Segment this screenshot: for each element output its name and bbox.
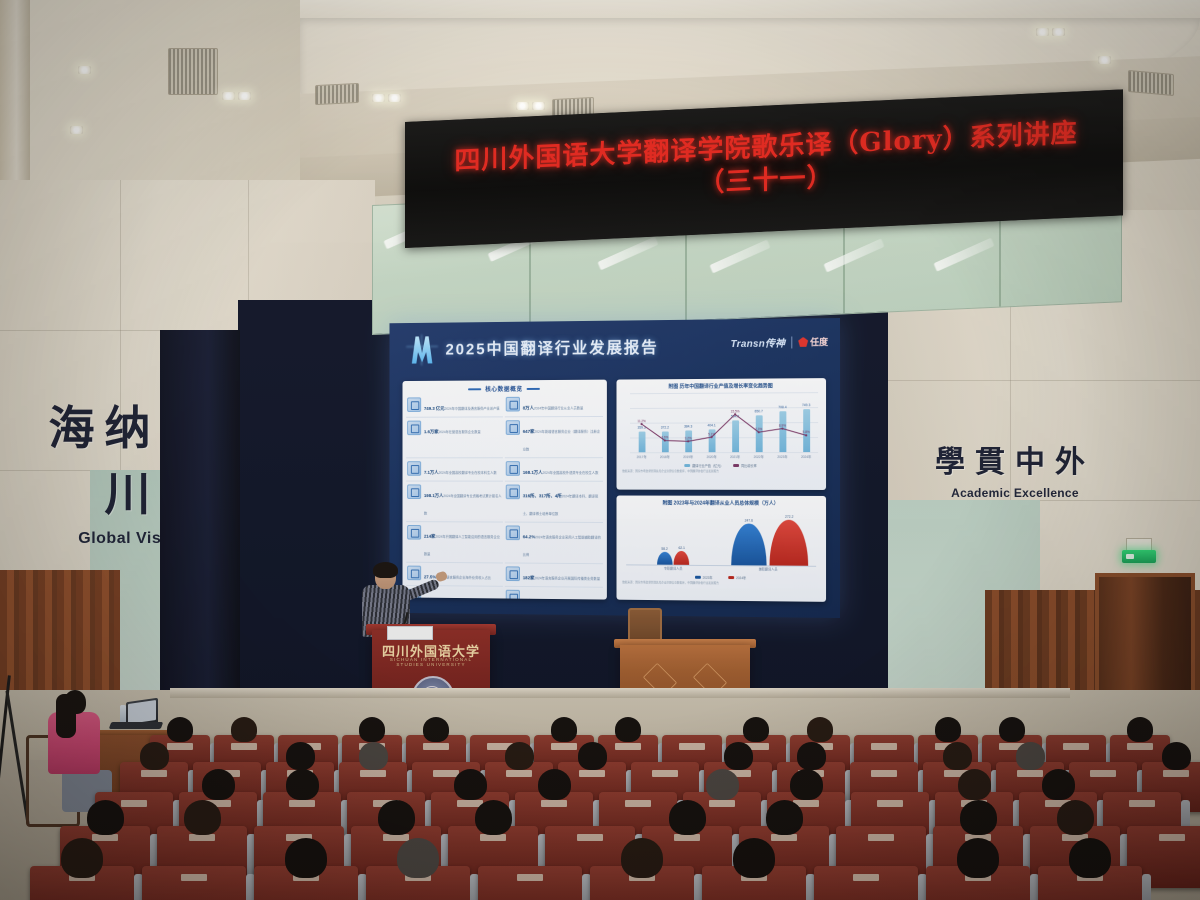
kpi-text: 7.1万人2024年全国高校翻译专业在校本科生人数 bbox=[424, 461, 497, 479]
kpi-text: 168.1万人2024年全国高校外语类专业在校生人数 bbox=[523, 461, 599, 479]
kpi-icon bbox=[506, 397, 520, 412]
chart-top-note: 数据来源：国家市场监督管理总局企业注册信息数据库，中国翻译协会行业发展报告 bbox=[617, 468, 827, 475]
audience-member-head bbox=[87, 800, 124, 835]
kpi-icon bbox=[407, 461, 421, 476]
brand-transn-logo: Transn传神 bbox=[731, 335, 786, 350]
auditorium-photo: 海纳百川 Global Vision 學貫中外 Academic Excelle… bbox=[0, 0, 1200, 900]
downlight-3 bbox=[222, 92, 235, 100]
kpi-value: 647家 bbox=[523, 429, 535, 434]
slide-title: 2025中国翻译行业发展报告 bbox=[445, 334, 658, 360]
kpi-desc: 2024年新增语言服务企业（翻译服务）注册企业数 bbox=[523, 430, 600, 452]
audience-member-head bbox=[454, 769, 487, 800]
svg-text:11.2%: 11.2% bbox=[637, 419, 646, 423]
kpi-text: 316所、317所、4所2024年翻译本科、翻译硕士、翻译博士培养单位数 bbox=[523, 485, 602, 520]
chart-legend-label: 2023年 bbox=[703, 575, 713, 580]
chart-x-tick: 2023年 bbox=[777, 454, 787, 459]
kpi-text: 198.1万人2024年全国翻译专业资格考试累计报名人数 bbox=[424, 484, 502, 519]
downlight-2 bbox=[70, 126, 83, 134]
chart-x-tick: 专职翻译人员 bbox=[664, 566, 683, 571]
audience-member-head bbox=[1042, 769, 1075, 800]
chart-x-tick: 2019年 bbox=[683, 454, 693, 459]
audience-member-head bbox=[1162, 742, 1191, 770]
podium-name-card bbox=[387, 626, 433, 640]
kpi-value: 182家 bbox=[523, 575, 535, 580]
kpi-item: 7.1万人2024年全国高校翻译专业在校本科生人数 bbox=[406, 459, 503, 481]
chart-distribution-value: 247.6 bbox=[745, 519, 753, 523]
audience-member-head bbox=[733, 838, 775, 878]
kpi-item: 214家2024年开展翻译人工智能应用的语言服务企业数量 bbox=[406, 523, 503, 563]
chart-x-tick: 兼职翻译人员 bbox=[759, 566, 778, 571]
kpi-icon bbox=[506, 525, 520, 540]
kpi-text: 749.3 亿元2024年中国翻译及语言服务产业总产值 bbox=[424, 397, 500, 415]
audience-seat[interactable] bbox=[478, 866, 582, 900]
audience-member-head bbox=[615, 717, 641, 742]
laptop-keyboard[interactable] bbox=[109, 722, 164, 729]
kpi-icon bbox=[407, 397, 421, 412]
audience-member-head bbox=[551, 717, 577, 742]
audience-member-head bbox=[505, 742, 534, 770]
chart-distribution-shape bbox=[731, 524, 766, 566]
kpi-icon bbox=[407, 566, 421, 581]
slide-kpi-card: 核心数据概览 749.3 亿元2024年中国翻译及语言服务产业总产值8万人202… bbox=[403, 380, 607, 600]
kpi-value: 1.6万家 bbox=[424, 429, 439, 434]
audience-member-head bbox=[538, 769, 571, 800]
kpi-text: 8万人2024年中国翻译行业从业人员数量 bbox=[523, 396, 583, 414]
audience-member-head bbox=[1057, 800, 1094, 835]
stage-edge bbox=[170, 688, 1070, 698]
audience-member-head bbox=[724, 742, 753, 770]
downlight-8 bbox=[532, 102, 545, 110]
audience-member-head bbox=[766, 800, 803, 835]
chart-x-tick: 2020年 bbox=[707, 454, 717, 459]
audience-member-head bbox=[578, 742, 607, 770]
wall-motto-right-en: Academic Excellence bbox=[935, 486, 1095, 500]
chart-x-tick: 2021年 bbox=[730, 454, 740, 459]
svg-text:3.2%: 3.2% bbox=[685, 436, 692, 440]
audience-seat[interactable] bbox=[814, 866, 918, 900]
kpi-text: 214家2024年开展翻译人工智能应用的语言服务企业数量 bbox=[424, 525, 502, 560]
kpi-card-title: 核心数据概览 bbox=[403, 380, 607, 396]
kpi-desc: 2024年开展翻译人工智能应用的语言服务企业数量 bbox=[424, 535, 500, 556]
kpi-item: 67家2024年重点语言服务企业数量 bbox=[505, 588, 603, 600]
audience-member-head bbox=[1016, 742, 1045, 770]
kpi-value: 64.2% bbox=[523, 534, 535, 539]
podium-university-en: SICHUAN INTERNATIONAL STUDIES UNIVERSITY bbox=[378, 657, 484, 667]
chart-x-tick: 2022年 bbox=[754, 454, 764, 459]
audience-member-head bbox=[621, 838, 663, 878]
audience-member-head bbox=[706, 769, 739, 800]
rendu-mark-icon bbox=[798, 337, 808, 347]
audience-member-head bbox=[960, 800, 997, 835]
kpi-text: 67家2024年重点语言服务企业数量 bbox=[523, 590, 575, 600]
chart-distribution-value: 62.1 bbox=[678, 546, 684, 550]
kpi-desc: 2024年语言服务企业采用人工智能辅助翻译的比例 bbox=[523, 535, 601, 556]
kpi-grid: 749.3 亿元2024年中国翻译及语言服务产业总产值8万人2024年中国翻译行… bbox=[403, 394, 607, 599]
speaker-hair bbox=[373, 562, 398, 578]
audience-member-head bbox=[167, 717, 193, 742]
chart-bottom-plot-area: 58.262.1247.6272.2 bbox=[626, 509, 816, 567]
audience-member-head bbox=[475, 800, 512, 835]
chart-legend-entry: 翻译行业产值（亿元） bbox=[684, 463, 723, 468]
kpi-desc: 2024年在营语言服务企业数量 bbox=[439, 430, 481, 434]
chart-legend-entry: 同比增长率 bbox=[733, 463, 757, 468]
kpi-value: 749.3 亿元 bbox=[424, 406, 445, 411]
ceiling-vent-4 bbox=[1128, 70, 1174, 96]
chart-x-tick: 2018年 bbox=[660, 454, 670, 459]
kpi-value: 168.1万人 bbox=[523, 470, 543, 475]
kpi-text: 182家2024年语言服务企业开展国际传播类业务数量 bbox=[523, 567, 600, 585]
downlight-1 bbox=[78, 66, 91, 74]
chart-x-tick: 2024年 bbox=[801, 454, 811, 459]
glass-reflection-4 bbox=[710, 239, 771, 273]
kpi-value: 198.1万人 bbox=[424, 493, 443, 498]
chart-distribution-shape bbox=[657, 552, 673, 565]
stage-curtain bbox=[160, 330, 240, 720]
kpi-text: 1.6万家2024年在营语言服务企业数量 bbox=[424, 420, 481, 438]
downlight-4 bbox=[238, 92, 251, 100]
slide-logo-icon bbox=[406, 334, 438, 365]
svg-text:15.5%: 15.5% bbox=[731, 409, 740, 413]
audience-member-head bbox=[359, 742, 388, 770]
slide-header: 2025中国翻译行业发展报告 Transn传神 任度 bbox=[389, 318, 840, 376]
chart-growth-line: 11.2%3.6%3.2%5.1%15.5%7.3%8.9%5.8% bbox=[630, 392, 818, 452]
svg-text:8.9%: 8.9% bbox=[779, 424, 786, 428]
chart-distribution-value: 272.2 bbox=[785, 515, 793, 519]
kpi-icon bbox=[407, 525, 421, 540]
audience-member-head bbox=[790, 769, 823, 800]
laptop-screen bbox=[128, 700, 156, 724]
chart-x-tick: 2017年 bbox=[637, 454, 647, 459]
brand-rendu-logo: 任度 bbox=[798, 335, 828, 348]
chart-legend-label: 翻译行业产值（亿元） bbox=[692, 463, 723, 468]
kpi-value: 214家 bbox=[424, 534, 435, 539]
chart-distribution-shape bbox=[674, 551, 690, 564]
kpi-desc: 2024年语言服务企业开展国际传播类业务数量 bbox=[534, 576, 600, 580]
audience-member-head bbox=[935, 717, 961, 742]
chart-top-x-axis: 2017年2018年2019年2020年2021年2022年2023年2024年 bbox=[630, 454, 818, 462]
downlight-10 bbox=[1052, 28, 1065, 36]
audience-member-head bbox=[397, 838, 439, 878]
kpi-item: 182家2024年语言服务企业开展国际传播类业务数量 bbox=[505, 564, 603, 587]
chart-bottom-x-axis: 专职翻译人员兼职翻译人员 bbox=[626, 565, 816, 574]
wall-seam-5 bbox=[880, 380, 1200, 381]
kpi-icon bbox=[506, 566, 520, 581]
slide-brand-lockup: Transn传神 任度 bbox=[731, 334, 828, 350]
audience-member-head bbox=[285, 838, 327, 878]
kpi-item: 8万人2024年中国翻译行业从业人员数量 bbox=[505, 394, 603, 417]
kpi-item: 647家2024年新增语言服务企业（翻译服务）注册企业数 bbox=[505, 418, 603, 458]
kpi-icon bbox=[407, 421, 421, 436]
chart-legend-entry: 2023年 bbox=[695, 575, 713, 580]
glass-reflection-6 bbox=[934, 238, 995, 272]
kpi-icon bbox=[506, 485, 520, 500]
kpi-value: 7.1万人 bbox=[424, 470, 439, 475]
slide-chart-output-trend: 附图 历年中国翻译行业产值及增长率变化趋势图 359.3372.2384.340… bbox=[617, 378, 827, 490]
chart-legend-label: 2024年 bbox=[736, 575, 746, 580]
kpi-desc: 2024年中国翻译行业从业人员数量 bbox=[534, 406, 583, 410]
kpi-value: 8万人 bbox=[523, 406, 534, 411]
audience-member-head bbox=[669, 800, 706, 835]
kpi-text: 647家2024年新增语言服务企业（翻译服务）注册企业数 bbox=[523, 420, 602, 455]
chart-distribution-shape bbox=[770, 520, 808, 566]
svg-text:5.1%: 5.1% bbox=[708, 432, 715, 436]
brand-divider bbox=[791, 336, 792, 348]
audience-member-head bbox=[943, 742, 972, 770]
audience-member-head bbox=[743, 717, 769, 742]
audience-member-head bbox=[957, 838, 999, 878]
ceiling-vent-1 bbox=[168, 48, 218, 95]
seat-divider bbox=[1142, 874, 1151, 900]
audience-member-head bbox=[423, 717, 449, 742]
chart-bottom-title: 附图 2023年与2024年翻译从业人员总体规模（万人） bbox=[617, 496, 827, 508]
svg-text:7.3%: 7.3% bbox=[755, 427, 762, 431]
downlight-5 bbox=[372, 94, 385, 102]
kpi-item: 749.3 亿元2024年中国翻译及语言服务产业总产值 bbox=[406, 395, 503, 418]
kpi-item: 198.1万人2024年全国翻译专业资格考试累计报名人数 bbox=[406, 482, 503, 522]
glass-reflection-5 bbox=[824, 238, 885, 272]
kpi-item: 316所、317所、4所2024年翻译本科、翻译硕士、翻译博士培养单位数 bbox=[505, 483, 603, 523]
slide-chart-workforce: 附图 2023年与2024年翻译从业人员总体规模（万人） 58.262.1247… bbox=[617, 496, 827, 602]
kpi-value: 316所、317所、4所 bbox=[523, 493, 562, 498]
chart-legend-entry: 2024年 bbox=[728, 575, 746, 580]
audience-member-head bbox=[61, 838, 103, 878]
audience-member-head bbox=[1069, 838, 1111, 878]
kpi-icon bbox=[506, 461, 520, 476]
kpi-desc: 2024年全国高校翻译专业在校本科生人数 bbox=[439, 471, 497, 475]
chart-distribution-value: 58.2 bbox=[661, 547, 667, 551]
operator-head bbox=[64, 690, 86, 714]
audience-member-head bbox=[1127, 717, 1153, 742]
downlight-9 bbox=[1036, 28, 1049, 36]
audience-member-head bbox=[202, 769, 235, 800]
audience-member-head bbox=[958, 769, 991, 800]
kpi-desc: 2024年中国翻译及语言服务产业总产值 bbox=[445, 407, 500, 411]
kpi-item: 168.1万人2024年全国高校外语类专业在校生人数 bbox=[505, 459, 603, 482]
kpi-item: 1.6万家2024年在营语言服务企业数量 bbox=[406, 418, 503, 458]
audience-member-head bbox=[231, 717, 257, 742]
chart-top-plot-area: 359.3372.2384.3404.1554.2650.7708.4749.3… bbox=[630, 392, 818, 453]
audience-member-head bbox=[286, 769, 319, 800]
chart-top-title: 附图 历年中国翻译行业产值及增长率变化趋势图 bbox=[617, 378, 827, 391]
title-dash-left-icon bbox=[468, 389, 481, 391]
downlight-11 bbox=[1098, 56, 1111, 64]
title-dash-right-icon bbox=[526, 388, 539, 390]
downlight-7 bbox=[516, 102, 529, 110]
kpi-item: 64.2%2024年语言服务企业采用人工智能辅助翻译的比例 bbox=[505, 524, 603, 565]
ceiling-vent-2 bbox=[315, 83, 359, 105]
kpi-item: 27.5%2024年语言服务企业海外业务收入占比 bbox=[406, 564, 503, 587]
audience-member-head bbox=[286, 742, 315, 770]
exit-sign-icon bbox=[1122, 550, 1156, 563]
svg-text:3.6%: 3.6% bbox=[661, 435, 668, 439]
audience-member-head bbox=[999, 717, 1025, 742]
chart-legend-label: 同比增长率 bbox=[741, 463, 757, 468]
chart-bottom-note: 数据来源：国家市场监督管理总局企业注册信息数据库，中国翻译协会行业发展报告 bbox=[617, 579, 827, 588]
audience-member-head bbox=[184, 800, 221, 835]
audience-member-head bbox=[359, 717, 385, 742]
kpi-card-title-text: 核心数据概览 bbox=[485, 387, 522, 393]
kpi-icon bbox=[506, 420, 520, 435]
audience-member-head bbox=[797, 742, 826, 770]
brand-rendu-text: 任度 bbox=[810, 335, 828, 348]
audience-seat[interactable] bbox=[142, 866, 246, 900]
projection-screen: 2025中国翻译行业发展报告 Transn传神 任度 核心数据概览 749.3 … bbox=[389, 318, 840, 618]
audience-member-head bbox=[378, 800, 415, 835]
kpi-icon bbox=[506, 590, 520, 600]
wall-motto-right-cn: 學貫中外 bbox=[935, 437, 1095, 481]
kpi-text: 64.2%2024年语言服务企业采用人工智能辅助翻译的比例 bbox=[523, 526, 602, 562]
glass-reflection-3 bbox=[598, 236, 659, 270]
wall-motto-right: 學貫中外 Academic Excellence bbox=[935, 437, 1095, 500]
kpi-icon bbox=[407, 484, 421, 499]
audience-member-head bbox=[807, 717, 833, 742]
downlight-6 bbox=[388, 94, 401, 102]
kpi-desc: 2024年全国高校外语类专业在校生人数 bbox=[542, 471, 598, 475]
svg-text:5.8%: 5.8% bbox=[803, 430, 810, 434]
audience-member-head bbox=[140, 742, 169, 770]
